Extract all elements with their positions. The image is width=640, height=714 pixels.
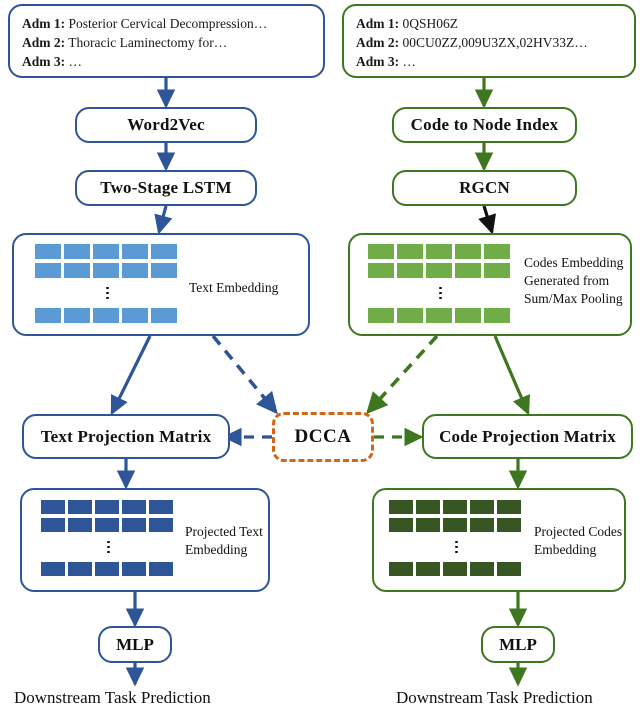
dcca-box: DCCA	[272, 412, 374, 462]
text-embedding-caption: Text Embedding	[189, 279, 278, 297]
embedding-cell	[389, 500, 413, 514]
right-input-box: Adm 1: 0QSH06Z Adm 2: 00CU0ZZ,009U3ZX,02…	[342, 4, 636, 78]
projected-codes-row	[389, 518, 524, 532]
embedding-cell	[426, 244, 452, 259]
embedding-cell	[122, 518, 146, 532]
projected-codes-grid	[389, 500, 524, 576]
codes-embedding-caption-line1: Codes Embedding	[524, 254, 623, 272]
right-input-value-1: 0QSH06Z	[399, 16, 458, 31]
embedding-cell	[416, 500, 440, 514]
right-input-line-3: Adm 3: …	[356, 52, 622, 71]
left-input-value-3: …	[65, 54, 82, 69]
embedding-cell	[497, 518, 521, 532]
embedding-cell	[41, 518, 65, 532]
embedding-cell	[368, 263, 394, 278]
code-projection-matrix-box: Code Projection Matrix	[422, 414, 633, 459]
embedding-cell	[122, 308, 148, 323]
right-input-line-1: Adm 1: 0QSH06Z	[356, 14, 622, 33]
word2vec-box: Word2Vec	[75, 107, 257, 143]
two-stage-lstm-box: Two-Stage LSTM	[75, 170, 257, 206]
embedding-cell	[426, 263, 452, 278]
embedding-cell	[455, 244, 481, 259]
text-embedding-box: Text Embedding	[12, 233, 310, 336]
right-input-line-2: Adm 2: 00CU0ZZ,009U3ZX,02HV33Z…	[356, 33, 622, 52]
left-input-label-1: Adm 1:	[22, 16, 65, 31]
left-input-line-2: Adm 2: Thoracic Laminectomy for…	[22, 33, 311, 52]
embedding-cell	[416, 562, 440, 576]
text-embedding-row	[35, 263, 180, 278]
ellipsis-dot	[106, 292, 109, 295]
embedding-cell	[151, 263, 177, 278]
ellipsis-dot	[455, 551, 458, 554]
ellipsis-dot	[107, 551, 110, 554]
embedding-cell	[151, 308, 177, 323]
codes-embedding-row	[368, 308, 513, 323]
embedding-cell	[149, 562, 173, 576]
projected-text-row	[41, 562, 176, 576]
embedding-cell	[497, 500, 521, 514]
text-embedding-row	[35, 244, 180, 259]
embedding-cell	[35, 308, 61, 323]
left-downstream-task-prediction: Downstream Task Prediction	[14, 688, 211, 708]
text-embedding-row	[35, 308, 180, 323]
projected-text-caption: Projected Text Embedding	[185, 523, 263, 559]
embedding-cell	[151, 244, 177, 259]
projected-text-grid	[41, 500, 176, 576]
codes-embedding-box: Codes Embedding Generated from Sum/Max P…	[348, 233, 632, 336]
left-input-line-1: Adm 1: Posterior Cervical Decompression…	[22, 14, 311, 33]
embedding-cell	[397, 263, 423, 278]
left-input-box: Adm 1: Posterior Cervical Decompression……	[8, 4, 325, 78]
embedding-cell	[95, 518, 119, 532]
embedding-cell	[64, 244, 90, 259]
embedding-cell	[93, 244, 119, 259]
embedding-cell	[455, 308, 481, 323]
ellipsis-dot	[439, 297, 442, 300]
two-stage-lstm-label: Two-Stage LSTM	[100, 178, 231, 198]
embedding-cell	[484, 263, 510, 278]
embedding-cell	[443, 562, 467, 576]
right-downstream-task-prediction: Downstream Task Prediction	[396, 688, 593, 708]
left-mlp-label: MLP	[116, 635, 154, 655]
embedding-cell	[497, 562, 521, 576]
projected-codes-row	[389, 500, 524, 514]
codes-embedding-row	[368, 244, 513, 259]
text-embedding-ellipsis	[35, 278, 180, 308]
projected-text-ellipsis	[41, 532, 176, 562]
text-projection-matrix-box: Text Projection Matrix	[22, 414, 230, 459]
right-input-label-2: Adm 2:	[356, 35, 399, 50]
embedding-cell	[122, 263, 148, 278]
embedding-cell	[397, 244, 423, 259]
embedding-cell	[95, 562, 119, 576]
embedding-cell	[470, 518, 494, 532]
embedding-cell	[389, 518, 413, 532]
projected-codes-caption: Projected Codes Embedding	[534, 523, 622, 559]
embedding-cell	[95, 500, 119, 514]
ellipsis-dot	[439, 292, 442, 295]
embedding-cell	[68, 562, 92, 576]
embedding-cell	[416, 518, 440, 532]
right-mlp-label: MLP	[499, 635, 537, 655]
embedding-cell	[368, 308, 394, 323]
right-mlp-box: MLP	[481, 626, 555, 663]
left-input-value-2: Thoracic Laminectomy for…	[65, 35, 227, 50]
projected-text-caption-line1: Projected Text	[185, 523, 263, 541]
diagram-canvas: Adm 1: Posterior Cervical Decompression……	[0, 0, 640, 714]
embedding-cell	[455, 263, 481, 278]
codes-embedding-caption: Codes Embedding Generated from Sum/Max P…	[524, 254, 623, 309]
projected-codes-caption-line2: Embedding	[534, 541, 622, 559]
word2vec-label: Word2Vec	[127, 115, 204, 135]
embedding-cell	[64, 308, 90, 323]
embedding-cell	[68, 500, 92, 514]
code-to-node-index-box: Code to Node Index	[392, 107, 577, 143]
embedding-cell	[35, 244, 61, 259]
embedding-cell	[41, 562, 65, 576]
embedding-cell	[470, 500, 494, 514]
codes-embedding-caption-line2: Generated from	[524, 272, 623, 290]
ellipsis-dot	[439, 287, 442, 290]
embedding-cell	[64, 263, 90, 278]
ellipsis-dot	[106, 287, 109, 290]
embedding-cell	[35, 263, 61, 278]
projected-codes-embedding-box: Projected Codes Embedding	[372, 488, 626, 592]
embedding-cell	[93, 308, 119, 323]
projected-codes-ellipsis	[389, 532, 524, 562]
embedding-cell	[68, 518, 92, 532]
embedding-cell	[122, 562, 146, 576]
embedding-cell	[41, 500, 65, 514]
projected-text-caption-line2: Embedding	[185, 541, 263, 559]
embedding-cell	[122, 500, 146, 514]
right-input-label-3: Adm 3:	[356, 54, 399, 69]
ellipsis-dot	[455, 546, 458, 549]
ellipsis-dot	[107, 546, 110, 549]
codes-embedding-caption-line3: Sum/Max Pooling	[524, 290, 623, 308]
embedding-cell	[443, 500, 467, 514]
embedding-cell	[397, 308, 423, 323]
left-mlp-box: MLP	[98, 626, 172, 663]
left-input-label-2: Adm 2:	[22, 35, 65, 50]
projected-text-row	[41, 500, 176, 514]
embedding-cell	[122, 244, 148, 259]
right-input-label-1: Adm 1:	[356, 16, 399, 31]
ellipsis-dot	[106, 297, 109, 300]
codes-embedding-row	[368, 263, 513, 278]
embedding-cell	[389, 562, 413, 576]
projected-text-embedding-box: Projected Text Embedding	[20, 488, 270, 592]
embedding-cell	[470, 562, 494, 576]
embedding-cell	[484, 244, 510, 259]
embedding-cell	[484, 308, 510, 323]
left-input-value-1: Posterior Cervical Decompression…	[65, 16, 267, 31]
projected-text-row	[41, 518, 176, 532]
codes-embedding-grid	[368, 244, 513, 323]
left-input-line-3: Adm 3: …	[22, 52, 311, 71]
ellipsis-dot	[455, 541, 458, 544]
text-embedding-grid	[35, 244, 180, 323]
embedding-cell	[426, 308, 452, 323]
embedding-cell	[149, 518, 173, 532]
rgcn-label: RGCN	[459, 178, 510, 198]
right-input-value-3: …	[399, 54, 416, 69]
embedding-cell	[368, 244, 394, 259]
ellipsis-dot	[107, 541, 110, 544]
codes-embedding-ellipsis	[368, 278, 513, 308]
dcca-label: DCCA	[295, 426, 352, 448]
text-projection-matrix-label: Text Projection Matrix	[41, 427, 212, 447]
code-projection-matrix-label: Code Projection Matrix	[439, 427, 616, 447]
right-input-value-2: 00CU0ZZ,009U3ZX,02HV33Z…	[399, 35, 588, 50]
rgcn-box: RGCN	[392, 170, 577, 206]
projected-codes-row	[389, 562, 524, 576]
embedding-cell	[93, 263, 119, 278]
projected-codes-caption-line1: Projected Codes	[534, 523, 622, 541]
embedding-cell	[149, 500, 173, 514]
left-input-label-3: Adm 3:	[22, 54, 65, 69]
code-to-node-index-label: Code to Node Index	[411, 115, 559, 135]
embedding-cell	[443, 518, 467, 532]
